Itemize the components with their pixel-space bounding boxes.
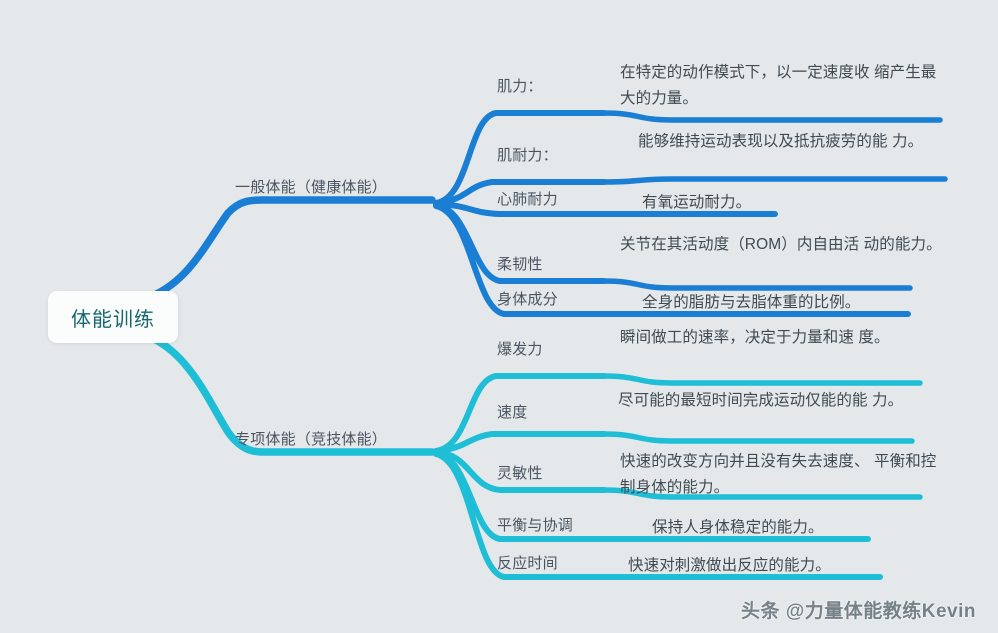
root-node[interactable]: 体能训练: [48, 291, 178, 343]
child-label-body-composition[interactable]: 身体成分: [497, 290, 558, 310]
subbranch-rourenxing-tail: [604, 281, 910, 288]
child-label-power[interactable]: 爆发力: [497, 340, 543, 360]
child-label-muscular-endurance[interactable]: 肌耐力：: [497, 146, 558, 166]
child-desc-cardiorespiratory-endurance: 有氧运动耐力。: [642, 190, 952, 216]
watermark: 头条 @力量体能教练Kevin: [741, 596, 976, 623]
child-desc-reaction-time: 快速对刺激做出反应的能力。: [628, 553, 928, 579]
subbranch-sudu-tail: [604, 434, 912, 441]
child-desc-muscular-strength: 在特定的动作模式下，以一定速度收 缩产生最大的力量。: [620, 60, 945, 112]
child-label-cardiorespiratory-endurance[interactable]: 心肺耐力: [497, 190, 558, 210]
child-label-reaction-time[interactable]: 反应时间: [497, 554, 558, 574]
branch-label-specific-fitness[interactable]: 专项体能（竞技体能）: [235, 430, 387, 450]
branch-label-general-fitness[interactable]: 一般体能（健康体能）: [235, 178, 387, 198]
subbranch-sudu: [436, 434, 604, 451]
child-desc-flexibility: 关节在其活动度（ROM）内自由活 动的能力。: [620, 232, 945, 258]
child-label-muscular-strength[interactable]: 肌力：: [497, 77, 543, 97]
mindmap-canvas: 体能训练 一般体能（健康体能） 专项体能（竞技体能） 肌力： 肌耐力： 心肺耐力…: [0, 0, 998, 633]
child-label-agility[interactable]: 灵敏性: [497, 464, 543, 484]
child-desc-muscular-endurance: 能够维持运动表现以及抵抗疲劳的能 力。: [638, 129, 948, 155]
child-desc-body-composition: 全身的脂肪与去脂体重的比例。: [642, 290, 962, 316]
trunk-general-fitness: [152, 200, 432, 296]
subbranch-jili-tail: [604, 113, 940, 120]
child-label-speed[interactable]: 速度: [497, 403, 527, 423]
child-desc-agility: 快速的改变方向并且没有失去速度、 平衡和控制身体的能力。: [620, 449, 950, 501]
child-label-flexibility[interactable]: 柔韧性: [497, 255, 543, 275]
child-label-balance-coordination[interactable]: 平衡与协调: [497, 516, 573, 536]
child-desc-balance-coordination: 保持人身体稳定的能力。: [652, 515, 952, 541]
child-desc-power: 瞬间做工的速率，决定于力量和速 度。: [620, 325, 940, 351]
subbranch-jinaili-tail: [604, 179, 945, 182]
root-node-label: 体能训练: [71, 303, 155, 332]
child-desc-speed: 尽可能的最短时间完成运动仅能的能 力。: [618, 388, 943, 414]
subbranch-baofali-tail: [604, 376, 920, 383]
